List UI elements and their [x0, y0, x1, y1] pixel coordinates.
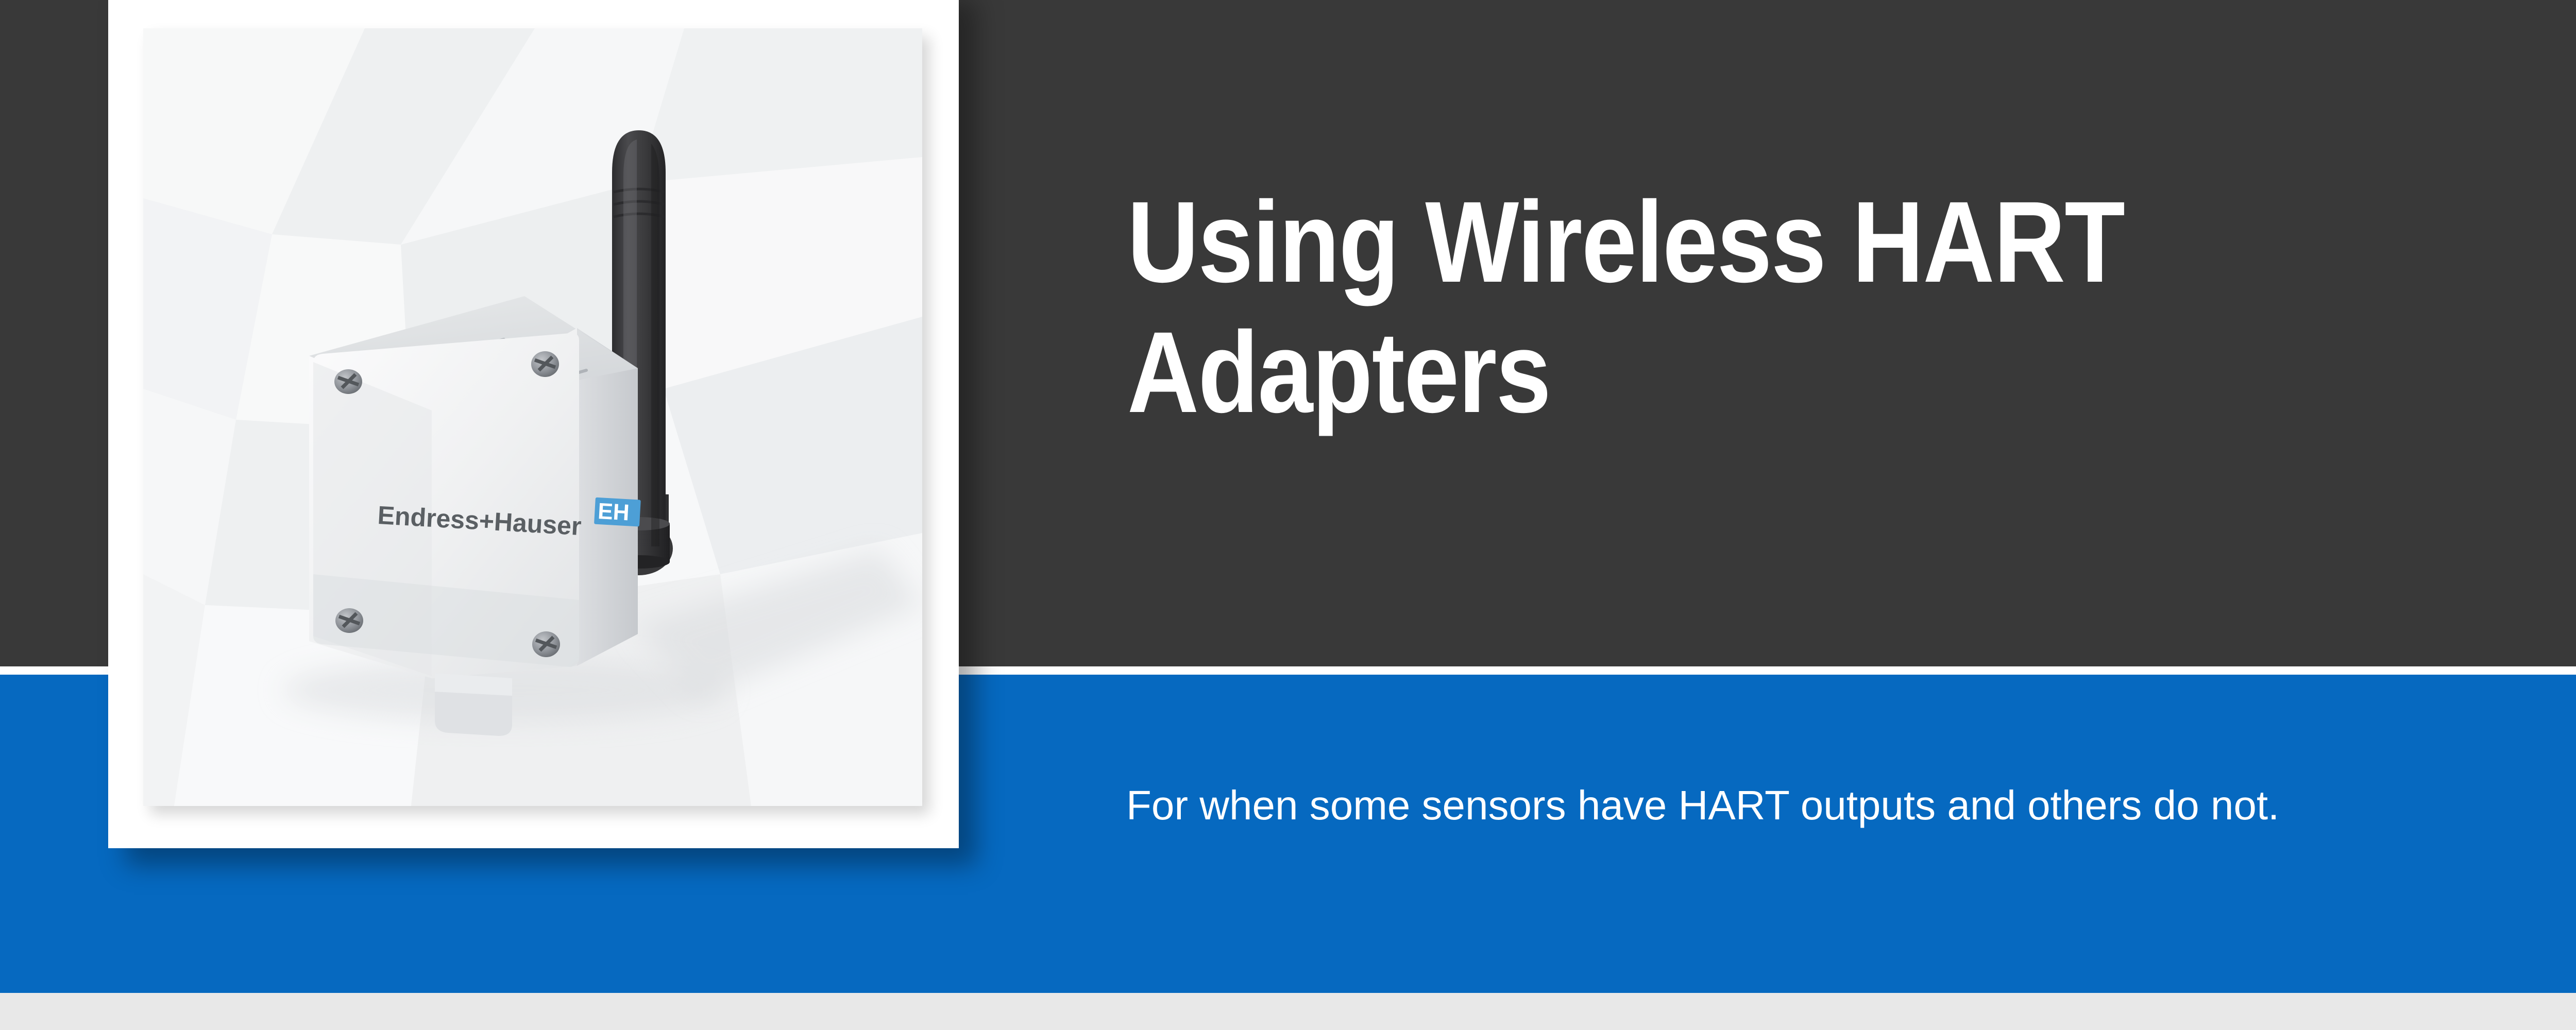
product-illustration: Endress+Hauser EH [143, 28, 922, 806]
product-photo-card: Endress+Hauser EH [108, 0, 959, 848]
page-footer-strip [0, 993, 2576, 1030]
brand-mark-text: EH [597, 499, 630, 525]
page-title: Using Wireless HART Adapters [1127, 177, 2501, 438]
page-subtitle: For when some sensors have HART outputs … [1126, 779, 2576, 832]
hero-banner: Using Wireless HART Adapters For when so… [0, 0, 2576, 1030]
product-photo: Endress+Hauser EH [143, 28, 922, 806]
